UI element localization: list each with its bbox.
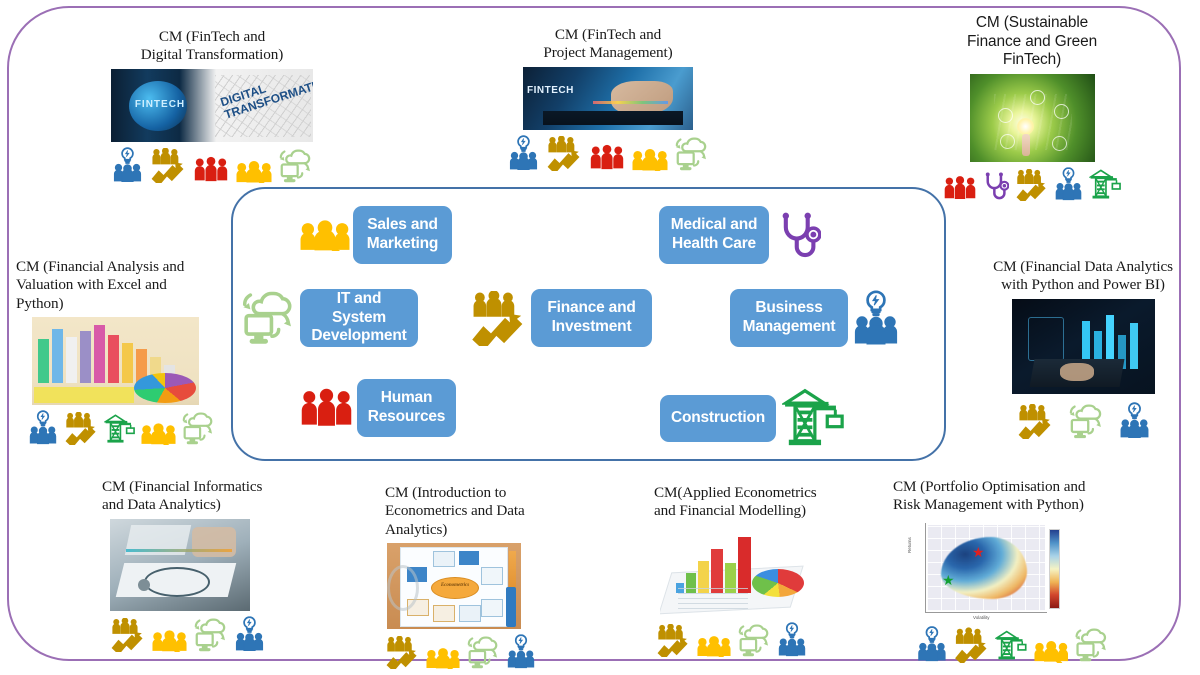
- card-icon-row: [943, 167, 1121, 201]
- people-lightbulb-icon: [506, 634, 536, 669]
- sales-magnifier-people-icon: [426, 647, 460, 669]
- card-fintech-project-management[interactable]: CM (FinTech and Project Management) FINT…: [493, 26, 723, 171]
- people-growth-arrow-icon: [110, 618, 145, 652]
- people-lightbulb-icon: [234, 616, 265, 652]
- card-image: [660, 525, 810, 617]
- people-lightbulb-icon: [848, 290, 904, 346]
- people-lightbulb-icon: [1054, 167, 1083, 201]
- green-star-marker: ★: [942, 575, 955, 589]
- three-people-icon: [589, 144, 625, 171]
- card-fintech-digital-transformation[interactable]: CM (FinTech and Digital Transformation) …: [88, 28, 336, 183]
- monitor-cloud-icon: [1069, 404, 1103, 439]
- monitor-cloud-icon: [194, 618, 227, 652]
- people-growth-arrow-icon: [954, 627, 988, 663]
- card-icon-row: [917, 625, 1108, 663]
- people-lightbulb-icon: [1119, 402, 1150, 439]
- card-title: CM (Portfolio Optimisation and Risk Mana…: [893, 478, 1108, 515]
- people-growth-arrow-icon: [64, 412, 98, 445]
- card-icon-row: [110, 616, 317, 652]
- card-icon-row: [978, 402, 1188, 439]
- center-item-medical-and-health-care[interactable]: Medical and Health Care: [659, 206, 829, 264]
- center-chip-label: Construction: [660, 395, 776, 442]
- center-item-finance-and-investment[interactable]: Finance and Investment: [465, 289, 652, 347]
- people-lightbulb-icon: [112, 147, 143, 183]
- center-panel: Sales and Marketing Medical and Health C…: [231, 187, 946, 461]
- monitor-cloud-icon: [675, 137, 708, 171]
- monitor-cloud-icon: [467, 636, 499, 669]
- card-icon-row: [28, 410, 216, 445]
- chart-ylabel: Returns: [907, 537, 912, 553]
- card-image: ★ ★ Returns Volatility: [897, 519, 1095, 623]
- chart-xlabel: Volatility: [973, 615, 990, 620]
- monitor-cloud-icon: [738, 624, 770, 657]
- card-icon-row: [385, 634, 585, 669]
- people-lightbulb-icon: [508, 135, 539, 171]
- center-chip-label: Human Resources: [357, 379, 456, 437]
- center-chip-label: IT and System Development: [300, 289, 418, 347]
- people-growth-arrow-icon: [546, 136, 582, 171]
- people-lightbulb-icon: [28, 410, 58, 445]
- center-item-human-resources[interactable]: Human Resources: [295, 379, 456, 437]
- center-chip-label: Sales and Marketing: [353, 206, 452, 264]
- monitor-cloud-icon: [279, 149, 312, 183]
- people-growth-arrow-icon: [465, 291, 531, 346]
- monitor-cloud-icon: [1075, 627, 1108, 663]
- center-chip-label: Business Management: [730, 289, 848, 347]
- sales-magnifier-people-icon: [297, 219, 353, 251]
- crane-icon: [1089, 168, 1121, 201]
- card-image: FINTECH: [523, 67, 693, 130]
- card-image: FINTECH DIGITALTRANSFORMATION: [111, 69, 313, 142]
- card-title: CM (FinTech and Project Management): [493, 26, 723, 63]
- sales-magnifier-people-icon: [1034, 639, 1068, 663]
- center-item-it-and-system-development[interactable]: IT and System Development: [236, 289, 418, 347]
- sales-magnifier-people-icon: [632, 148, 668, 171]
- card-sustainable-finance-green-fintech[interactable]: CM (Sustainable Finance and Green FinTec…: [943, 14, 1121, 201]
- stethoscope-icon: [983, 171, 1009, 201]
- card-image: [32, 317, 199, 405]
- card-icon-row: [493, 135, 723, 171]
- card-image: [1012, 299, 1155, 394]
- card-title: CM (Financial Data Analytics with Python…: [978, 258, 1188, 295]
- sales-magnifier-people-icon: [141, 422, 176, 445]
- card-financial-data-analytics-powerbi[interactable]: CM (Financial Data Analytics with Python…: [978, 258, 1188, 439]
- sales-magnifier-people-icon: [152, 629, 187, 652]
- card-financial-analysis-valuation[interactable]: CM (Financial Analysis and Valuation wit…: [16, 258, 216, 445]
- center-item-construction[interactable]: Construction: [660, 384, 850, 452]
- card-image: [970, 74, 1095, 162]
- card-title: CM (Financial Informatics and Data Analy…: [102, 478, 317, 515]
- people-growth-arrow-icon: [1017, 404, 1053, 439]
- card-icon-row: [88, 147, 336, 183]
- center-item-sales-and-marketing[interactable]: Sales and Marketing: [297, 206, 452, 264]
- people-lightbulb-icon: [917, 625, 947, 663]
- card-introduction-econometrics-data-analytics[interactable]: CM (Introduction to Econometrics and Dat…: [385, 484, 585, 669]
- people-lightbulb-icon: [777, 622, 807, 657]
- center-chip-label: Medical and Health Care: [659, 206, 769, 264]
- card-image: [110, 519, 250, 611]
- monitor-cloud-icon: [182, 412, 214, 445]
- sales-magnifier-people-icon: [697, 635, 731, 657]
- people-growth-arrow-icon: [150, 148, 186, 183]
- card-portfolio-optimisation-risk-management[interactable]: CM (Portfolio Optimisation and Risk Mana…: [893, 478, 1108, 663]
- center-item-business-management[interactable]: Business Management: [730, 289, 904, 347]
- card-title: CM (Introduction to Econometrics and Dat…: [385, 484, 585, 539]
- card-title: CM (Financial Analysis and Valuation wit…: [16, 258, 216, 313]
- crane-icon: [776, 384, 850, 452]
- center-chip-label: Finance and Investment: [531, 289, 652, 347]
- card-image: Econometrics: [387, 543, 521, 629]
- three-people-icon: [295, 387, 357, 429]
- crane-icon: [995, 628, 1027, 663]
- card-icon-row: [656, 622, 864, 657]
- card-applied-econometrics-financial-modelling[interactable]: CM(Applied Econometrics and Financial Mo…: [654, 484, 864, 657]
- three-people-icon: [193, 156, 229, 183]
- crane-icon: [104, 413, 135, 445]
- stethoscope-icon: [769, 210, 829, 260]
- poster-canvas: Sales and Marketing Medical and Health C…: [0, 0, 1200, 675]
- card-title: CM(Applied Econometrics and Financial Mo…: [654, 484, 864, 521]
- sales-magnifier-people-icon: [236, 160, 272, 183]
- red-star-marker: ★: [972, 547, 985, 561]
- people-growth-arrow-icon: [385, 636, 419, 669]
- monitor-cloud-icon: [236, 291, 300, 345]
- three-people-icon: [943, 175, 977, 201]
- card-financial-informatics-data-analytics[interactable]: CM (Financial Informatics and Data Analy…: [102, 478, 317, 652]
- card-title: CM (Sustainable Finance and Green FinTec…: [943, 14, 1121, 70]
- card-title: CM (FinTech and Digital Transformation): [88, 28, 336, 65]
- people-growth-arrow-icon: [1015, 169, 1048, 201]
- people-growth-arrow-icon: [656, 624, 690, 657]
